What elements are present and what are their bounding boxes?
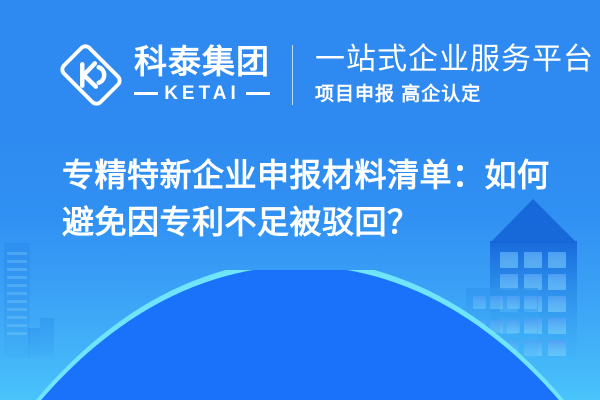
page-title-line-2: 避免因专利不足被驳回？ (62, 199, 572, 246)
logo-company-name-en: KETAI (164, 83, 240, 105)
logo-wordmark: 科泰集团 KETAI (134, 45, 270, 105)
header-divider (292, 45, 293, 105)
brand-lockup[interactable]: 科泰集团 KETAI (60, 44, 270, 106)
promo-banner: 科泰集团 KETAI 一站式企业服务平台 项目申报 高企认定 专精特新企业申报材… (0, 0, 600, 400)
page-title: 专精特新企业申报材料清单：如何 避免因专利不足被驳回？ (62, 152, 572, 247)
ketai-diamond-kp-logo (60, 44, 122, 106)
header-tagline: 一站式企业服务平台 项目申报 高企认定 (315, 42, 594, 109)
logo-dash-right (246, 92, 270, 95)
page-title-line-1: 专精特新企业申报材料清单：如何 (62, 152, 572, 199)
tagline-primary: 一站式企业服务平台 (315, 42, 594, 77)
logo-dash-left (134, 92, 158, 95)
logo-company-name-en-row: KETAI (134, 83, 270, 105)
logo-company-name-cn: 科泰集团 (134, 45, 270, 80)
tagline-secondary: 项目申报 高企认定 (315, 81, 594, 109)
arc-fill (0, 270, 600, 400)
bottom-curved-band (0, 270, 600, 400)
banner-header: 科泰集团 KETAI 一站式企业服务平台 项目申报 高企认定 (0, 0, 600, 150)
